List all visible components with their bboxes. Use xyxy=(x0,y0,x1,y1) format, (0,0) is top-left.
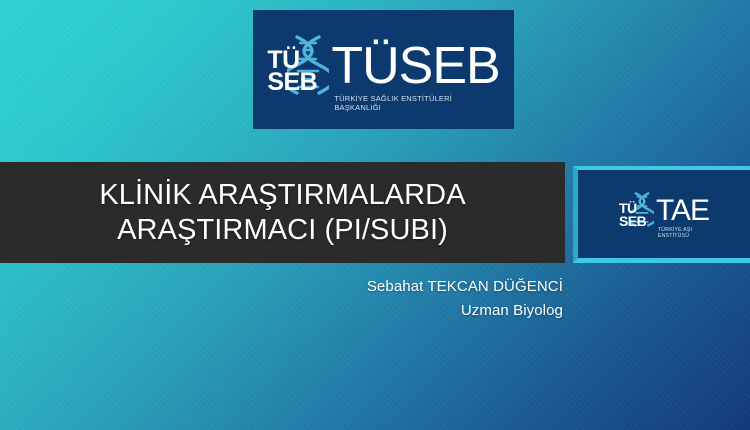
tuseb-wordmark: TÜSEB xyxy=(331,43,499,91)
author-name: Sebahat TEKCAN DÜĞENCİ xyxy=(0,275,563,299)
title-band: KLİNİK ARAŞTIRMALARDA ARAŞTIRMACI (PI/SU… xyxy=(0,162,565,263)
tae-logo-lockup: TÜ SEB TAE TÜRKİYE AŞI ENSTİTÜSÜ xyxy=(619,188,709,240)
tuseb-logo-mark: TÜ SEB xyxy=(267,43,327,105)
author-block: Sebahat TEKCAN DÜĞENCİ Uzman Biyolog xyxy=(0,275,565,322)
tuseb-subtitle: TÜRKİYE SAĞLIK ENSTİTÜLERİ BAŞKANLIĞI xyxy=(334,94,499,113)
tae-wordmark-group: TAE TÜRKİYE AŞI ENSTİTÜSÜ xyxy=(656,197,709,240)
tae-logo-mark: TÜ SEB xyxy=(619,198,653,232)
tae-mark-line2: SEB xyxy=(619,215,646,227)
author-role: Uzman Biyolog xyxy=(0,299,563,323)
tae-wordmark: TAE xyxy=(656,197,709,225)
presentation-slide: TÜ SEB TÜSEB TÜRKİYE SAĞLIK ENSTİTÜLERİ … xyxy=(0,0,750,430)
tuseb-wordmark-group: TÜSEB TÜRKİYE SAĞLIK ENSTİTÜLERİ BAŞKANL… xyxy=(331,43,499,113)
slide-title-line2: ARAŞTIRMACI (PI/SUBI) xyxy=(99,213,465,247)
tuseb-logo-lockup: TÜ SEB TÜSEB TÜRKİYE SAĞLIK ENSTİTÜLERİ … xyxy=(267,27,499,113)
slide-title-line1: KLİNİK ARAŞTIRMALARDA xyxy=(99,178,465,212)
tuseb-logo-panel: TÜ SEB TÜSEB TÜRKİYE SAĞLIK ENSTİTÜLERİ … xyxy=(253,10,514,129)
tuseb-mark-line2: SEB xyxy=(267,71,317,93)
slide-title: KLİNİK ARAŞTIRMALARDA ARAŞTIRMACI (PI/SU… xyxy=(85,178,479,246)
tae-logo-panel: TÜ SEB TAE TÜRKİYE AŞI ENSTİTÜSÜ xyxy=(573,166,750,263)
tae-subtitle: TÜRKİYE AŞI ENSTİTÜSÜ xyxy=(658,227,709,240)
